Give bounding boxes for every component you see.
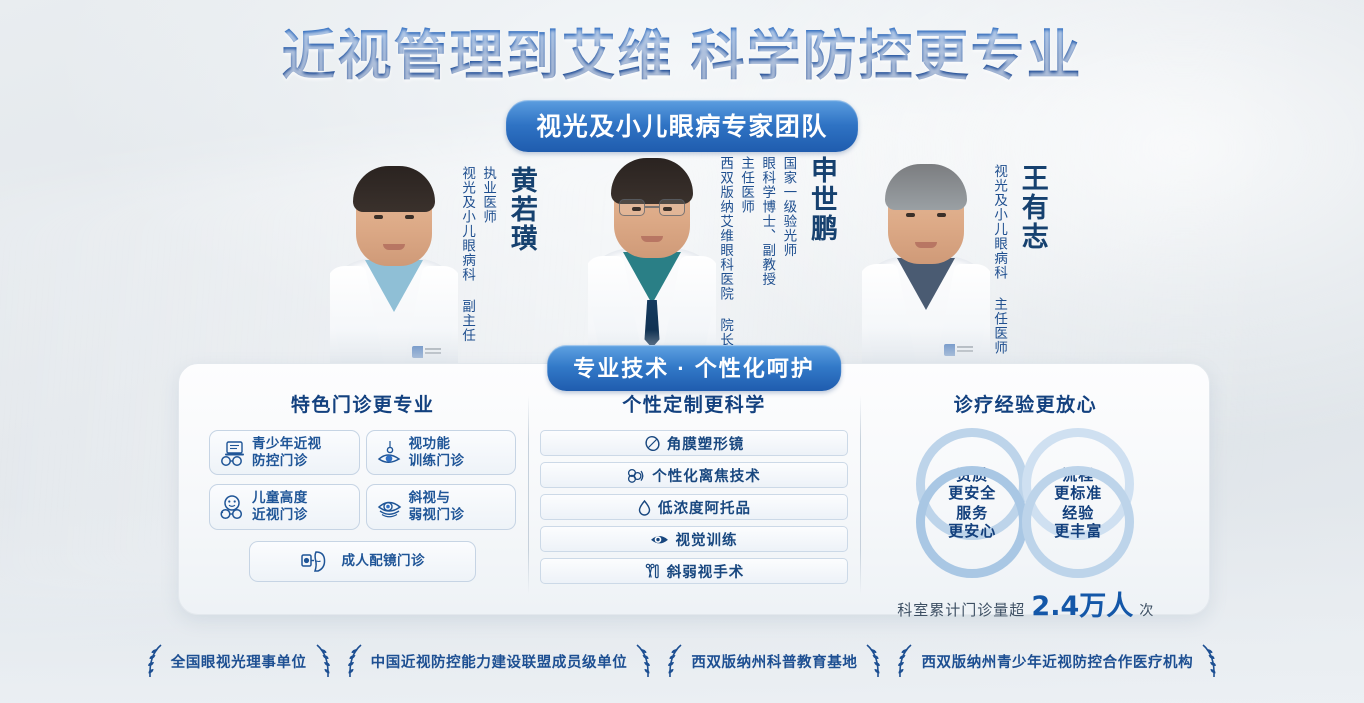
book-glasses-icon [219,440,247,466]
doctor-info-2: 申世鹏 国家一级验光师 眼科学博士、副教授 主任医师 西双版纳艾维眼科医院 院长 [716,140,836,347]
column-clinical-experience: 诊疗经验更放心 资质 更安全 流程 更标准 服务 更安心 经验 更丰富 [860,390,1191,600]
doctor-info-1: 黄若璜 执业医师 视光及小儿眼病科 副主任 [458,150,536,343]
child-glasses-icon [219,494,247,520]
services-banner: 专业技术 · 个性化呵护 [547,345,841,391]
column-custom-solutions: 个性定制更科学 角膜塑形镜 [528,390,859,600]
clinic-label: 斜视与 弱视门诊 [409,490,465,523]
clinic-chip-adult-optometry[interactable]: 成人配镜门诊 [249,541,476,582]
trust-ring-experience: 经验 更丰富 [1022,466,1134,578]
poster-root: 近视管理到艾维 科学防控更专业 视光及小儿眼病专家团队 黄若璜 执业医师 视光及… [0,0,1364,703]
solution-label: 斜弱视手术 [667,561,745,582]
headline-section: 近视管理到艾维 科学防控更专业 视光及小儿眼病专家团队 [0,26,1364,152]
eye-drop-icon [637,499,652,516]
doctor-name: 申世鹏 [806,156,836,243]
clinic-label: 儿童高度 近视门诊 [252,490,308,523]
doctor-card-1: 黄若璜 执业医师 视光及小儿眼病科 副主任 [330,150,536,370]
column-title: 诊疗经验更放心 [872,390,1179,417]
doctor-credential: 国家一级验光师 [779,156,797,258]
credential-label: 西双版纳州青少年近视防控合作医疗机构 [921,651,1193,672]
strabismus-eye-icon [376,494,404,520]
clinic-chip-vision-function[interactable]: 视功能 训练门诊 [366,430,517,475]
laurel-right-icon [633,643,653,679]
credential-badge-2: 中国近视防控能力建设联盟成员级单位 [345,643,654,679]
solution-bar-vision-training[interactable]: 视觉训练 [540,526,847,552]
stat-number: 2.4万人 [1031,591,1133,622]
doctors-row: 黄若璜 执业医师 视光及小儿眼病科 副主任 申世鹏 [0,140,1364,370]
credentials-row: 全国眼视光理事单位 中国近视防控能力建设联盟成员级单位 西双版纳州科普教育基 [0,643,1364,679]
services-card: 专业技术 · 个性化呵护 特色门诊更专业 [178,363,1210,615]
clinic-chip-list: 青少年近视 防控门诊 视功能 训练门诊 [209,430,516,582]
doctor-info-3: 王有志 视光及小儿眼病科 主任医师 [990,148,1047,355]
credential-label: 全国眼视光理事单位 [171,651,307,672]
stat-suffix: 次 [1139,603,1153,619]
solution-bar-surgery[interactable]: 斜弱视手术 [540,558,847,584]
clinic-label: 视功能 训练门诊 [409,436,465,469]
doctor-credential: 西双版纳艾维眼科医院 院长 [716,156,734,347]
solution-label: 角膜塑形镜 [667,433,745,454]
clinic-label: 成人配镜门诊 [341,553,424,570]
ring-label: 服务 更安心 [948,504,996,540]
doctor-name: 王有志 [1017,164,1047,251]
eye-pendulum-icon [376,440,404,466]
credential-badge-1: 全国眼视光理事单位 [145,643,333,679]
clinic-label: 青少年近视 防控门诊 [252,436,322,469]
phoropter-icon [300,548,330,574]
credential-label: 中国近视防控能力建设联盟成员级单位 [371,651,628,672]
doctor-card-3: 王有志 视光及小儿眼病科 主任医师 [862,148,1047,368]
solution-label: 低浓度阿托品 [658,497,751,518]
doctor-photo-3 [862,148,990,368]
doctor-name: 黄若璜 [506,166,536,253]
clinic-chip-strabismus-amblyopia[interactable]: 斜视与 弱视门诊 [366,484,517,529]
column-title: 特色门诊更专业 [209,390,516,417]
solution-bar-ok-lens[interactable]: 角膜塑形镜 [540,430,847,456]
laurel-left-icon [895,643,915,679]
clinic-chip-child-high-myopia[interactable]: 儿童高度 近视门诊 [209,484,360,529]
credential-badge-3: 西双版纳州科普教育基地 [665,643,883,679]
credential-label: 西双版纳州科普教育基地 [691,651,857,672]
ring-label: 经验 更丰富 [1054,504,1102,540]
doctor-credential: 视光及小儿眼病科 副主任 [458,166,476,343]
laurel-right-icon [313,643,333,679]
subtitle-pill: 视光及小儿眼病专家团队 [506,100,858,152]
laurel-left-icon [665,643,685,679]
column-special-clinics: 特色门诊更专业 青少年近视 防控门诊 [197,390,528,600]
page-title: 近视管理到艾维 科学防控更专业 [0,26,1364,86]
solution-label: 个性化离焦技术 [652,465,761,486]
clinic-chip-youth-myopia[interactable]: 青少年近视 防控门诊 [209,430,360,475]
solution-bar-defocus[interactable]: 个性化离焦技术 [540,462,847,488]
solution-bar-list: 角膜塑形镜 个性化离焦技术 [540,430,847,584]
doctor-credential: 视光及小儿眼病科 主任医师 [990,164,1008,355]
trust-ring-service: 服务 更安心 [916,466,1028,578]
laurel-left-icon [145,643,165,679]
doctor-card-2: 申世鹏 国家一级验光师 眼科学博士、副教授 主任医师 西双版纳艾维眼科医院 院长 [588,140,836,370]
laurel-right-icon [1199,643,1219,679]
doctor-credential: 执业医师 [479,166,497,224]
credential-badge-4: 西双版纳州青少年近视防控合作医疗机构 [895,643,1219,679]
eye-training-icon [650,531,669,548]
laurel-right-icon [863,643,883,679]
doctor-credential: 眼科学博士、副教授 [758,156,776,287]
stat-prefix: 科室累计门诊量超 [897,601,1025,619]
trust-rings-group: 资质 更安全 流程 更标准 服务 更安心 经验 更丰富 [916,428,1134,578]
solution-bar-atropine[interactable]: 低浓度阿托品 [540,494,847,520]
laurel-left-icon [345,643,365,679]
doctor-photo-2 [588,140,716,370]
visit-volume-stat: 科室累计门诊量超 2.4万人 次 [872,584,1179,623]
surgery-tools-icon [644,563,661,580]
defocus-circles-icon [627,467,646,484]
contact-lens-icon [644,435,661,452]
doctor-photo-1 [330,150,458,370]
doctor-credential: 主任医师 [737,156,755,214]
solution-label: 视觉训练 [675,529,737,550]
column-title: 个性定制更科学 [540,390,847,417]
